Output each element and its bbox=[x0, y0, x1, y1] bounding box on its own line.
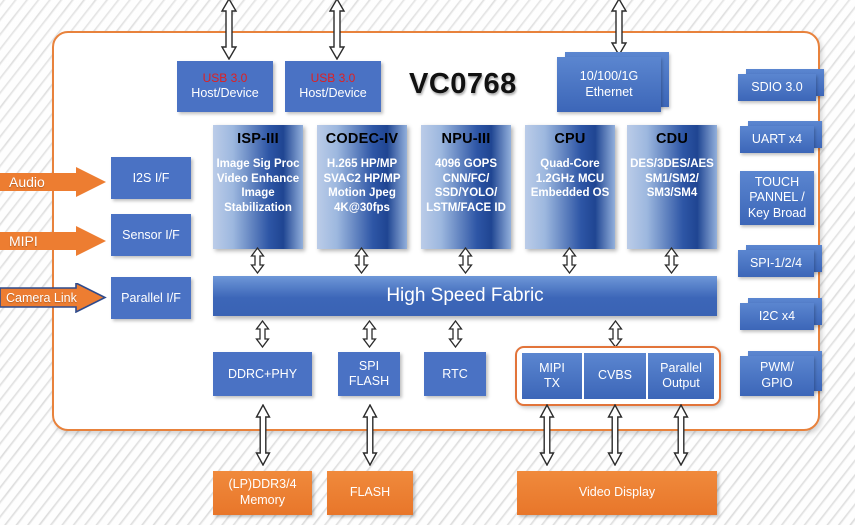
video-output-group: MIPI TX CVBS Parallel Output bbox=[515, 346, 721, 406]
video-display-label: Video Display bbox=[579, 485, 655, 501]
touch-panel-label: TOUCH PANNEL / Key Broad bbox=[740, 171, 814, 225]
arrow-cpu-fabric bbox=[561, 247, 578, 274]
block-npu[interactable]: NPU-III 4096 GOPS CNN/FC/ SSD/YOLO/ LSTM… bbox=[421, 125, 511, 249]
usb1-label-top: USB 3.0 bbox=[191, 71, 258, 86]
arrow-cvbs-display bbox=[606, 404, 624, 466]
block-spi-flash[interactable]: SPI FLASH bbox=[338, 352, 400, 396]
cpu-body: Quad-Core 1.2GHz MCU Embedded OS bbox=[528, 157, 613, 201]
arrow-fabric-spiflash bbox=[361, 320, 378, 348]
cpu-title: CPU bbox=[554, 131, 585, 147]
uart-label: UART x4 bbox=[740, 126, 814, 153]
block-spi[interactable]: SPI-1/2/4 bbox=[738, 250, 822, 277]
arrow-spiflash-flash bbox=[361, 404, 379, 466]
ddr-memory-label: (LP)DDR3/4 Memory bbox=[228, 477, 296, 508]
fabric-label: High Speed Fabric bbox=[386, 285, 543, 307]
camera-link-label: Camera Link bbox=[0, 283, 77, 313]
mipi-label: MIPI bbox=[0, 226, 38, 256]
block-pwm-gpio[interactable]: PWM/ GPIO bbox=[740, 356, 822, 396]
block-high-speed-fabric[interactable]: High Speed Fabric bbox=[213, 276, 717, 316]
mipi-tx-label: MIPI TX bbox=[539, 361, 565, 392]
block-ethernet[interactable]: 10/100/1G Ethernet bbox=[557, 57, 669, 112]
arrow-usb1-external bbox=[219, 0, 239, 60]
arrow-ethernet-external bbox=[609, 0, 629, 56]
input-arrow-audio: Audio bbox=[0, 167, 107, 197]
isp-title: ISP-III bbox=[237, 131, 279, 147]
block-parallel-output[interactable]: Parallel Output bbox=[648, 353, 714, 399]
codec-title: CODEC-IV bbox=[326, 131, 399, 147]
ethernet-label: 10/100/1G Ethernet bbox=[557, 57, 661, 112]
parallel-label: Parallel I/F bbox=[121, 291, 181, 306]
block-cpu[interactable]: CPU Quad-Core 1.2GHz MCU Embedded OS bbox=[525, 125, 615, 249]
usb2-label-top: USB 3.0 bbox=[299, 71, 366, 86]
arrow-codec-fabric bbox=[353, 247, 370, 274]
usb1-label-bottom: Host/Device bbox=[191, 86, 258, 102]
block-isp[interactable]: ISP-III Image Sig Proc Video Enhance Ima… bbox=[213, 125, 303, 249]
flash-label: FLASH bbox=[350, 485, 390, 501]
block-ddr-memory[interactable]: (LP)DDR3/4 Memory bbox=[213, 471, 312, 515]
parallel-output-label: Parallel Output bbox=[660, 361, 702, 392]
arrow-npu-fabric bbox=[457, 247, 474, 274]
sensor-label: Sensor I/F bbox=[122, 228, 180, 243]
ddrc-label: DDRC+PHY bbox=[228, 367, 297, 382]
block-sensor-if[interactable]: Sensor I/F bbox=[111, 214, 191, 256]
block-codec[interactable]: CODEC-IV H.265 HP/MP SVAC2 HP/MP Motion … bbox=[317, 125, 407, 249]
block-ddrc-phy[interactable]: DDRC+PHY bbox=[213, 352, 312, 396]
block-parallel-if[interactable]: Parallel I/F bbox=[111, 277, 191, 319]
isp-body: Image Sig Proc Video Enhance Image Stabi… bbox=[213, 157, 302, 216]
input-arrow-mipi: MIPI bbox=[0, 226, 107, 256]
block-diagram-canvas: VC0768 USB 3.0 Host/Device USB 3.0 Host/… bbox=[0, 0, 855, 525]
i2s-label: I2S I/F bbox=[133, 171, 170, 186]
arrow-ddrc-memory bbox=[254, 404, 272, 466]
pwm-label: PWM/ GPIO bbox=[740, 356, 814, 396]
codec-body: H.265 HP/MP SVAC2 HP/MP Motion Jpeg 4K@3… bbox=[320, 157, 403, 216]
cdu-body: DES/3DES/AES SM1/SM2/ SM3/SM4 bbox=[627, 157, 717, 201]
block-uart[interactable]: UART x4 bbox=[740, 126, 822, 153]
arrow-fabric-ddrc bbox=[254, 320, 271, 348]
block-mipi-tx[interactable]: MIPI TX bbox=[522, 353, 582, 399]
arrow-isp-fabric bbox=[249, 247, 266, 274]
block-cdu[interactable]: CDU DES/3DES/AES SM1/SM2/ SM3/SM4 bbox=[627, 125, 717, 249]
block-i2c[interactable]: I2C x4 bbox=[740, 303, 822, 330]
cvbs-label: CVBS bbox=[598, 368, 632, 383]
arrow-fabric-video-output bbox=[607, 320, 624, 348]
arrow-cdu-fabric bbox=[663, 247, 680, 274]
npu-title: NPU-III bbox=[442, 131, 491, 147]
block-flash[interactable]: FLASH bbox=[327, 471, 413, 515]
block-touch-panel[interactable]: TOUCH PANNEL / Key Broad bbox=[740, 171, 814, 225]
arrow-fabric-rtc bbox=[447, 320, 464, 348]
input-arrow-camera-link: Camera Link bbox=[0, 283, 107, 313]
usb2-label-bottom: Host/Device bbox=[299, 86, 366, 102]
block-cvbs[interactable]: CVBS bbox=[584, 353, 646, 399]
block-rtc[interactable]: RTC bbox=[424, 352, 486, 396]
block-i2s-if[interactable]: I2S I/F bbox=[111, 157, 191, 199]
block-video-display[interactable]: Video Display bbox=[517, 471, 717, 515]
audio-label: Audio bbox=[0, 167, 45, 197]
sdio-label: SDIO 3.0 bbox=[738, 74, 816, 101]
block-usb2[interactable]: USB 3.0 Host/Device bbox=[285, 61, 381, 112]
block-sdio[interactable]: SDIO 3.0 bbox=[738, 74, 824, 101]
block-usb1[interactable]: USB 3.0 Host/Device bbox=[177, 61, 273, 112]
cdu-title: CDU bbox=[656, 131, 688, 147]
spi-label: SPI-1/2/4 bbox=[738, 250, 814, 277]
page-title: VC0768 bbox=[409, 68, 517, 101]
rtc-label: RTC bbox=[442, 367, 467, 382]
arrow-mipi-tx-display bbox=[538, 404, 556, 466]
spiflash-label: SPI FLASH bbox=[349, 359, 389, 389]
arrow-usb2-external bbox=[327, 0, 347, 60]
i2c-label: I2C x4 bbox=[740, 303, 814, 330]
arrow-parallel-output-display bbox=[672, 404, 690, 466]
npu-body: 4096 GOPS CNN/FC/ SSD/YOLO/ LSTM/FACE ID bbox=[423, 157, 509, 216]
